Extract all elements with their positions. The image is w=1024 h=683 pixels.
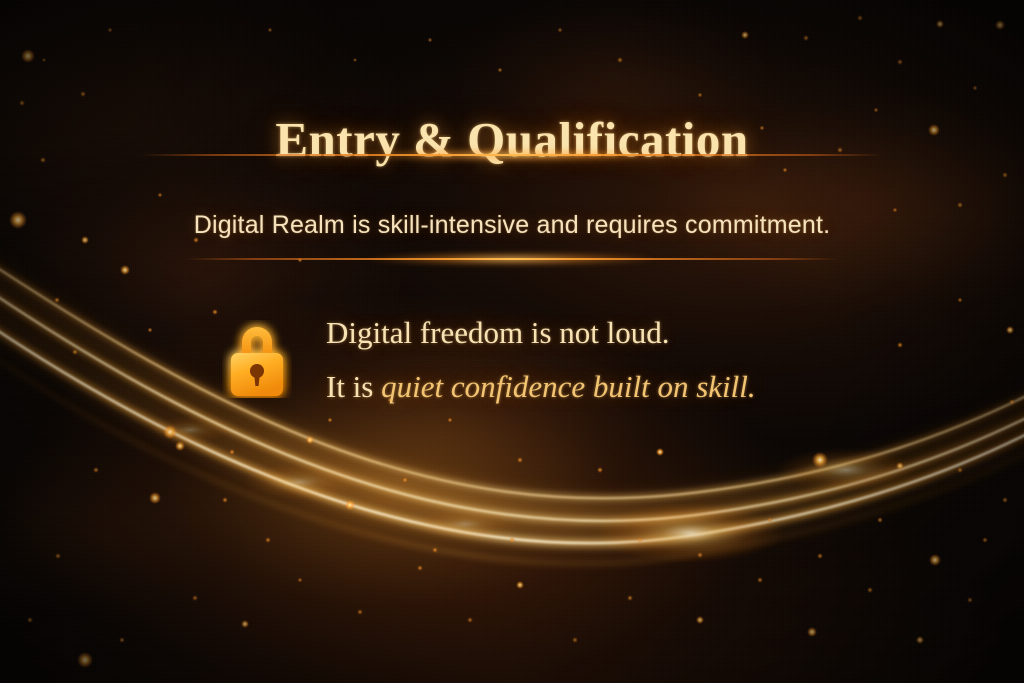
subtitle-text: Digital Realm is skill-intensive and req… xyxy=(0,211,1024,240)
slide-content: Entry & Qualification Digital Realm is s… xyxy=(0,0,1024,683)
divider-top xyxy=(140,154,884,156)
slide-canvas: Entry & Qualification Digital Realm is s… xyxy=(0,0,1024,683)
body-lines: Digital freedom is not loud. It is quiet… xyxy=(326,306,756,414)
lock-icon xyxy=(222,320,292,398)
divider-bottom xyxy=(186,258,838,260)
body-line-2-prefix: It is xyxy=(326,369,381,404)
body-block: Digital freedom is not loud. It is quiet… xyxy=(222,306,756,414)
body-line-2: It is quiet confidence built on skill. xyxy=(326,360,756,414)
body-line-1: Digital freedom is not loud. xyxy=(326,306,756,360)
body-line-2-emphasis: quiet confidence built on skill. xyxy=(381,369,756,404)
